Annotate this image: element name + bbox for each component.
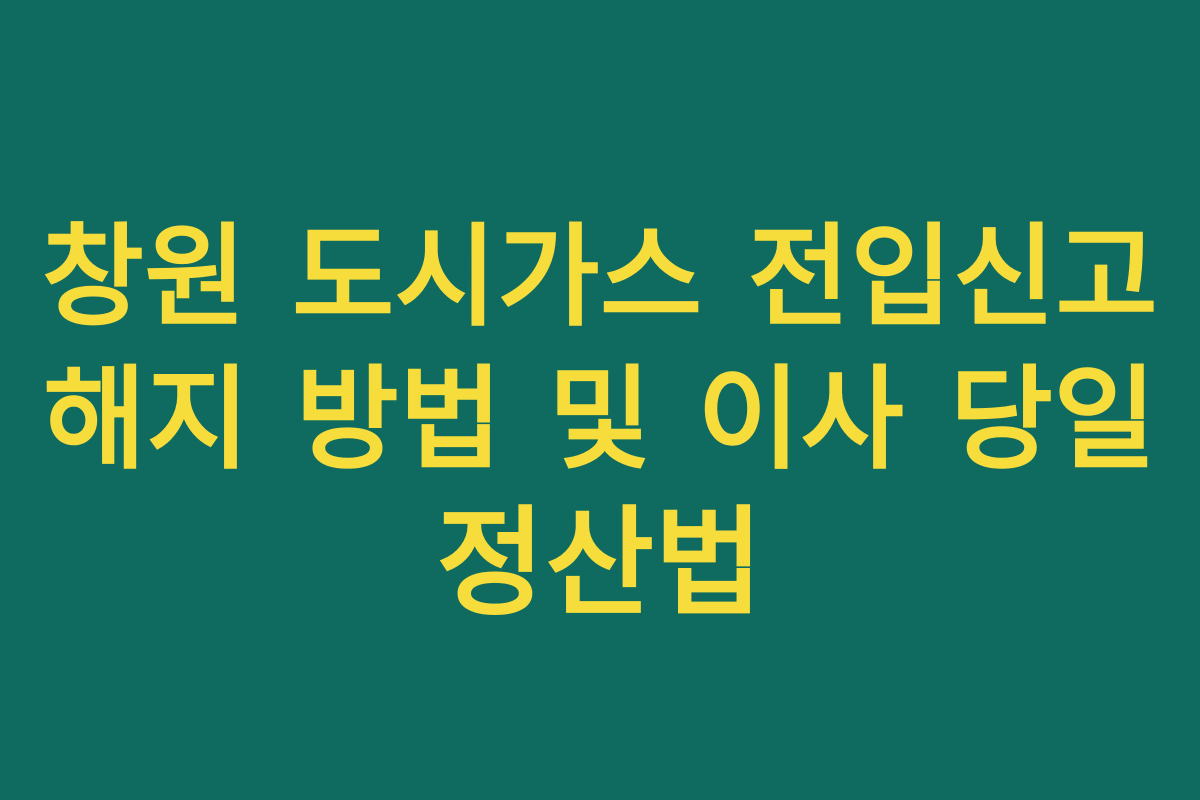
banner-canvas: 창원 도시가스 전입신고 해지 방법 및 이사 당일 정산법	[0, 0, 1200, 800]
headline-line-1: 창원 도시가스 전입신고	[40, 206, 1160, 349]
headline-line-3: 정산법	[40, 492, 1160, 635]
headline-line-2: 해지 방법 및 이사 당일	[40, 349, 1160, 492]
headline-block: 창원 도시가스 전입신고 해지 방법 및 이사 당일 정산법	[40, 206, 1160, 635]
